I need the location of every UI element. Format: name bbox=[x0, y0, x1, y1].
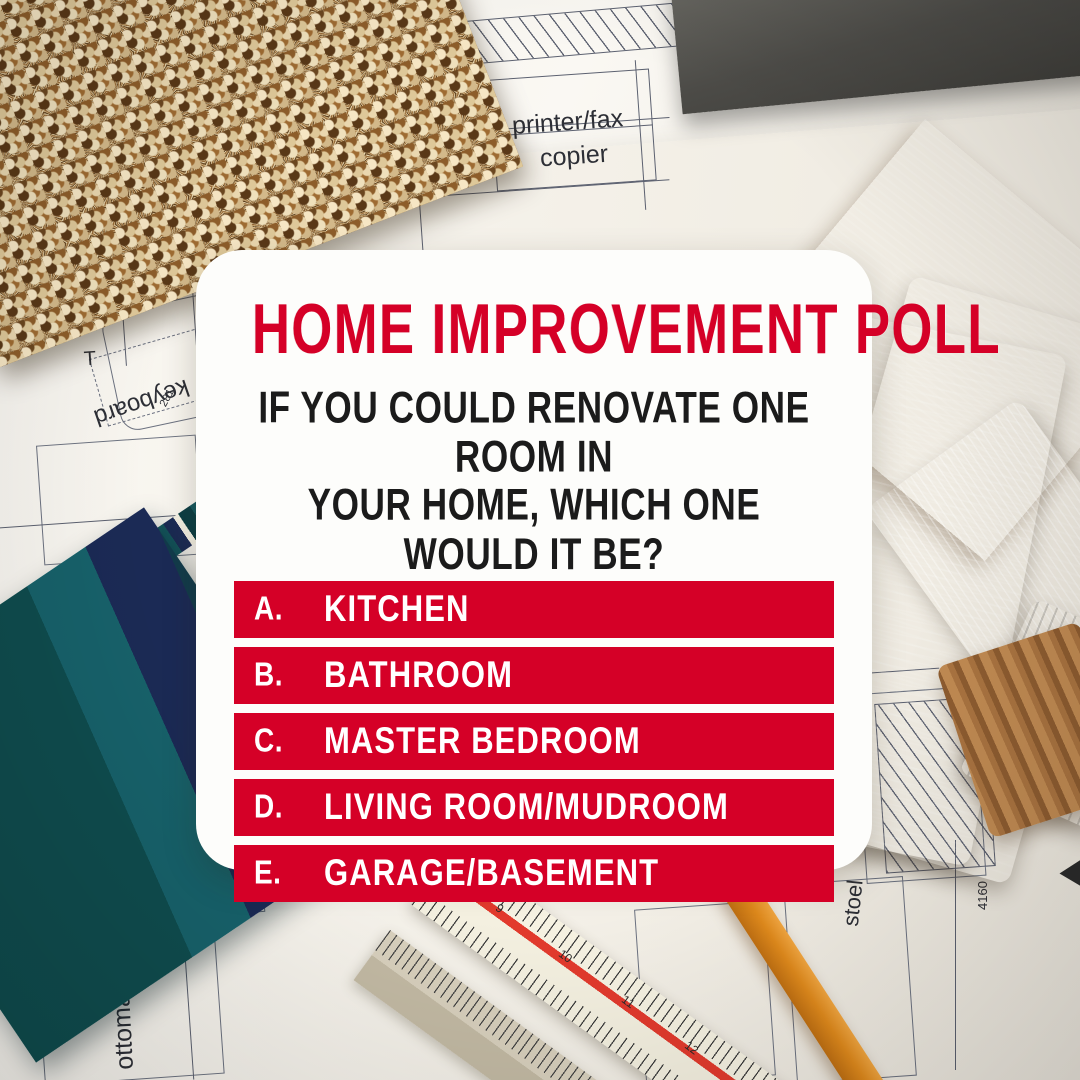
poll-option-letter: A. bbox=[254, 590, 324, 628]
poll-option-letter: E. bbox=[254, 854, 324, 892]
poll-option-e[interactable]: E.GARAGE/BASEMENT bbox=[234, 845, 834, 902]
poll-option-label: GARAGE/BASEMENT bbox=[324, 852, 659, 895]
poll-option-c[interactable]: C.MASTER BEDROOM bbox=[234, 713, 834, 770]
poll-question: IF YOU COULD RENOVATE ONE ROOM IN YOUR H… bbox=[249, 384, 819, 579]
poll-question-line-1: IF YOU COULD RENOVATE ONE ROOM IN bbox=[249, 384, 819, 482]
poll-question-line-2: YOUR HOME, WHICH ONE WOULD IT BE? bbox=[249, 482, 819, 580]
blueprint-label: T bbox=[83, 348, 97, 372]
poll-option-label: KITCHEN bbox=[324, 588, 469, 631]
poll-option-letter: B. bbox=[254, 656, 324, 694]
blueprint-label: 4160 bbox=[975, 881, 990, 910]
poll-options-list: A.KITCHENB.BATHROOMC.MASTER BEDROOMD.LIV… bbox=[234, 581, 834, 902]
page-title: HOME IMPROVEMENT POLL bbox=[252, 294, 816, 365]
poll-option-d[interactable]: D.LIVING ROOM/MUDROOM bbox=[234, 779, 834, 836]
blueprint-label: copier bbox=[539, 140, 609, 174]
poll-option-label: LIVING ROOM/MUDROOM bbox=[324, 786, 729, 829]
poll-option-b[interactable]: B.BATHROOM bbox=[234, 647, 834, 704]
poll-option-label: BATHROOM bbox=[324, 654, 513, 697]
blueprint-label: stoel bbox=[838, 879, 869, 928]
poll-option-label: MASTER BEDROOM bbox=[324, 720, 641, 763]
poll-option-letter: D. bbox=[254, 788, 324, 826]
poll-option-a[interactable]: A.KITCHEN bbox=[234, 581, 834, 638]
poll-option-letter: C. bbox=[254, 722, 324, 760]
poll-card: HOME IMPROVEMENT POLL IF YOU COULD RENOV… bbox=[196, 250, 872, 870]
